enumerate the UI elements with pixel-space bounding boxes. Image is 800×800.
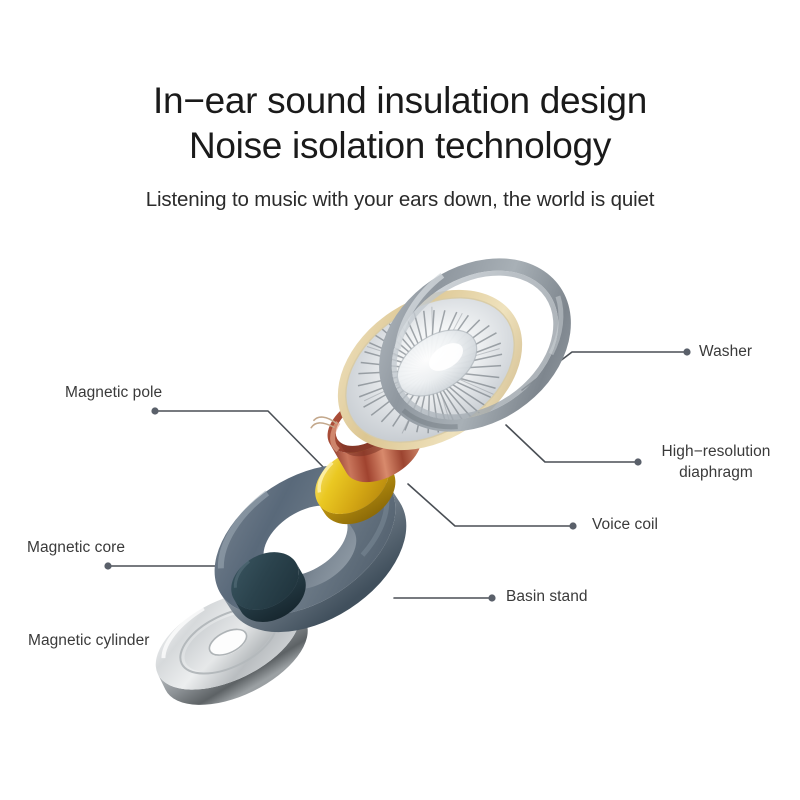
leader-dot-basin-stand: [488, 594, 495, 601]
page-root: In−ear sound insulation design Noise iso…: [0, 0, 800, 800]
leader-line-magnetic-pole: [158, 411, 330, 474]
leader-line-high-resolution-diaphragm: [506, 425, 635, 462]
leader-dot-high-resolution-diaphragm: [634, 458, 641, 465]
callout-label-magnetic-cylinder: Magnetic cylinder: [28, 631, 149, 651]
leader-dot-washer: [683, 348, 690, 355]
leader-dot-voice-coil: [569, 522, 576, 529]
callout-label-magnetic-pole: Magnetic pole: [65, 383, 162, 403]
leader-dot-magnetic-pole: [151, 407, 158, 414]
leader-line-voice-coil: [408, 484, 570, 526]
callout-label-voice-coil: Voice coil: [592, 515, 658, 535]
callout-label-basin-stand: Basin stand: [506, 587, 588, 607]
callout-label-magnetic-core: Magnetic core: [27, 538, 125, 558]
callout-label-high-resolution-diaphragm: High−resolution diaphragm: [650, 441, 782, 483]
leader-dot-magnetic-core: [104, 562, 111, 569]
callout-label-washer: Washer: [699, 342, 752, 362]
exploded-view-diagram: Washer High−resolution diaphragm Voice c…: [0, 0, 800, 800]
